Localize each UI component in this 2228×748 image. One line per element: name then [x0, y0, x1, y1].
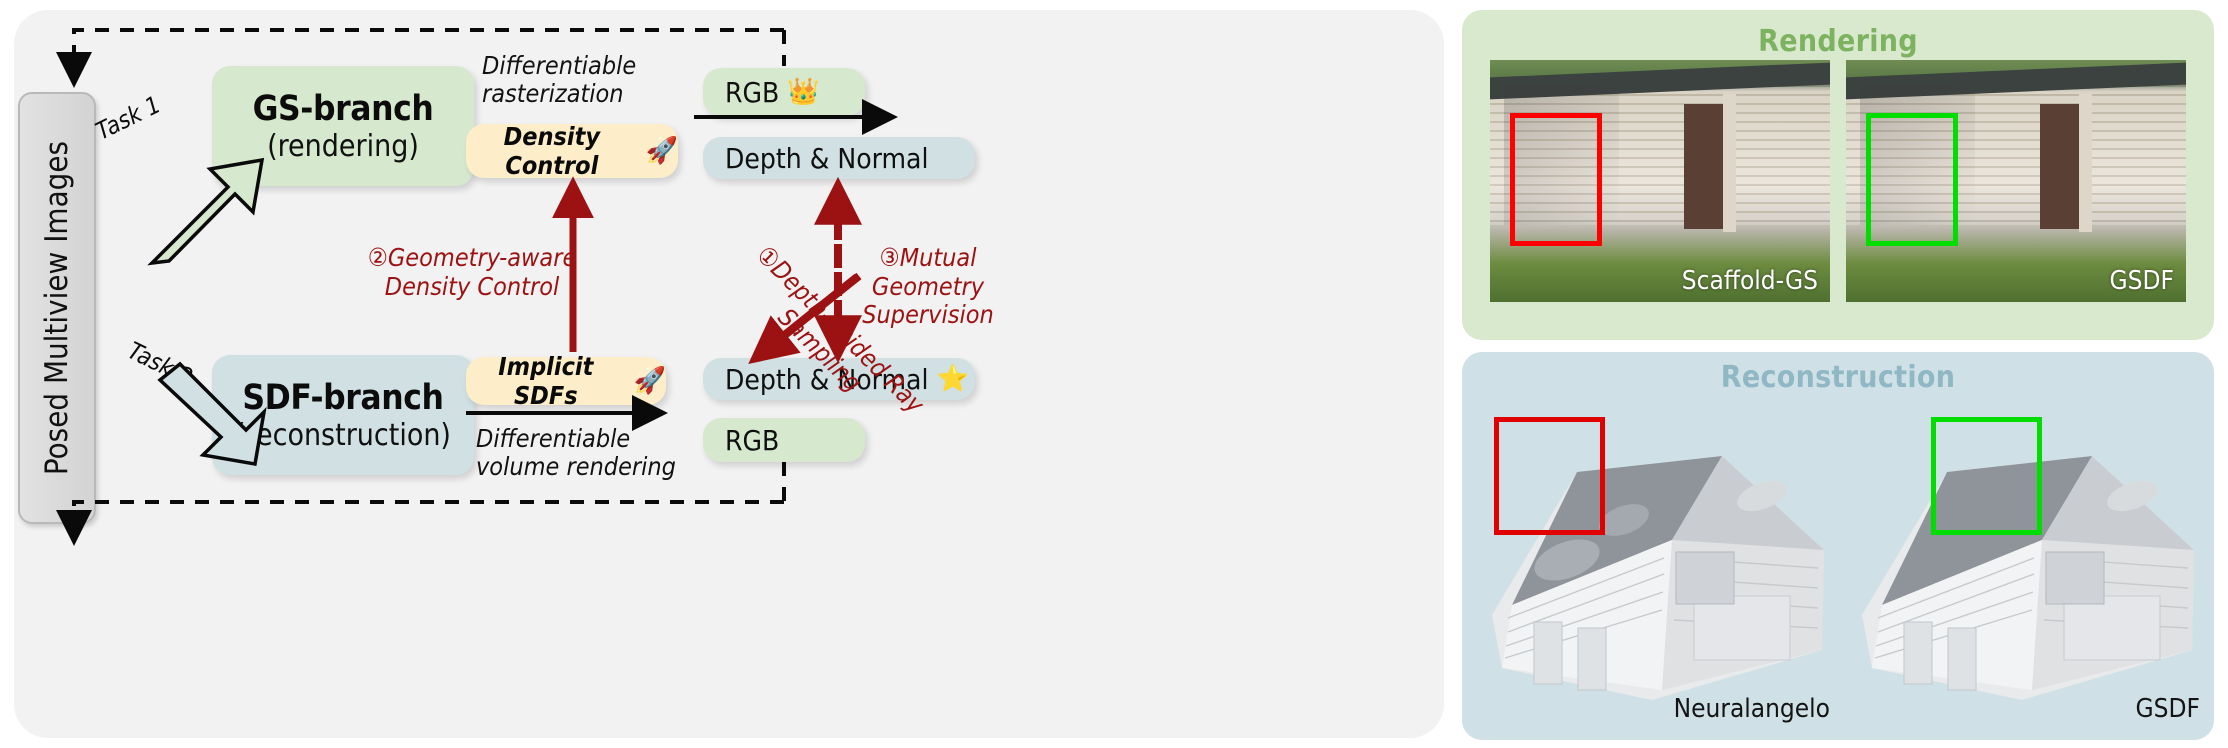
crown-icon: 👑 — [787, 79, 819, 105]
gs-depth-normal-tag[interactable]: Depth & Normal — [703, 137, 975, 179]
gs-branch-subtitle: (rendering) — [267, 129, 419, 164]
sdf-branch-title: SDF-branch — [242, 378, 443, 418]
density-control-chip[interactable]: Density Control 🚀 — [466, 124, 678, 178]
reconstruction-image-neuralangelo[interactable]: Neuralangelo — [1472, 400, 1842, 730]
input-block-label: Posed Multiview Images — [39, 141, 75, 475]
reconstruction-label-neuralangelo: Neuralangelo — [1674, 694, 1830, 724]
sdf-branch-box[interactable]: SDF-branch (reconstruction) — [212, 355, 474, 475]
sdf-rgb-label: RGB — [725, 424, 779, 457]
gs-branch-title: GS-branch — [253, 89, 434, 129]
gs-branch-box[interactable]: GS-branch (rendering) — [212, 66, 474, 186]
rocket-icon: 🚀 — [634, 368, 666, 394]
rasterization-caption: Differentiable rasterization — [482, 52, 636, 108]
gs-rgb-tag[interactable]: RGB 👑 — [703, 68, 865, 116]
rendering-panel: Rendering Scaffold-GS GSDF — [1462, 10, 2214, 340]
roi-box-red — [1494, 417, 1605, 536]
reconstruction-panel: Reconstruction — [1462, 352, 2214, 740]
roi-box-green — [1866, 113, 1958, 246]
gs-rgb-label: RGB — [725, 76, 779, 109]
rendering-image-gsdf[interactable]: GSDF — [1846, 60, 2186, 302]
figure-root: Posed Multiview Images GS-branch (render… — [0, 0, 2228, 748]
implicit-sdfs-chip[interactable]: Implicit SDFs 🚀 — [466, 357, 666, 405]
roi-box-red — [1510, 113, 1602, 246]
roi-box-green — [1931, 417, 2042, 536]
gs-depth-normal-label: Depth & Normal — [725, 142, 928, 175]
mutual-supervision-caption: ③Mutual Geometry Supervision — [828, 244, 1028, 330]
reconstruction-title: Reconstruction — [1462, 360, 2214, 395]
rendering-label-gsdf: GSDF — [2110, 266, 2174, 296]
density-control-link-caption: ②Geometry-aware Density Control — [352, 244, 592, 301]
rendering-label-scaffold-gs: Scaffold-GS — [1682, 266, 1818, 296]
volume-rendering-caption: Differentiable volume rendering — [476, 425, 676, 481]
rocket-icon: 🚀 — [646, 138, 678, 164]
sdf-branch-subtitle: (reconstruction) — [235, 418, 451, 453]
rendering-image-scaffold-gs[interactable]: Scaffold-GS — [1490, 60, 1830, 302]
density-control-label: Density Control — [466, 122, 638, 180]
rendering-title: Rendering — [1462, 24, 2214, 59]
reconstruction-label-gsdf: GSDF — [2136, 694, 2200, 724]
implicit-sdfs-label: Implicit SDFs — [466, 352, 626, 410]
reconstruction-image-gsdf[interactable]: GSDF — [1842, 400, 2212, 730]
input-block: Posed Multiview Images — [18, 92, 96, 524]
star-icon: ⭐ — [936, 366, 968, 392]
